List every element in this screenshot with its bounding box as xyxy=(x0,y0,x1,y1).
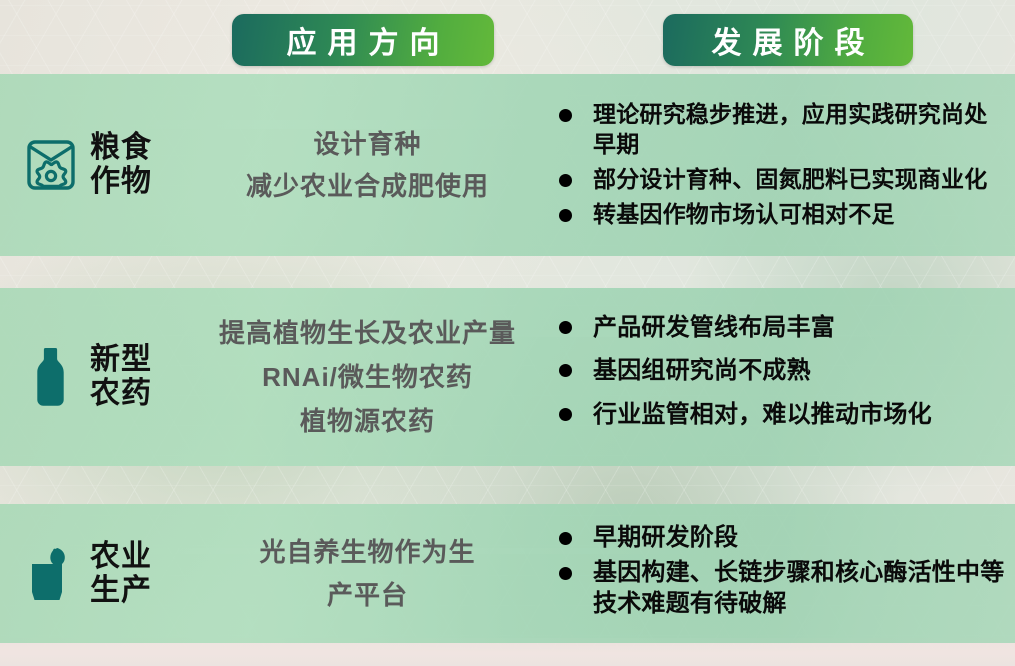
stage-bullet-item: 基因组研究尚不成熟 xyxy=(551,355,1007,386)
stage-cell: 理论研究稳步推进，应用实践研究尚处早期 部分设计育种、固氮肥料已实现商业化 转基… xyxy=(535,100,1015,230)
stage-bullet-item: 产品研发管线布局丰富 xyxy=(551,312,1007,343)
table-row: 粮食 作物 设计育种 减少农业合成肥使用 理论研究稳步推进，应用实践研究尚处早期… xyxy=(0,74,1015,256)
bullet-dot-icon xyxy=(559,567,572,580)
application-line: 提高植物生长及农业产量 xyxy=(204,311,531,355)
header-pill-application: 应用方向 xyxy=(232,14,494,66)
header-label-application: 应用方向 xyxy=(276,18,451,62)
category-label: 农业 生产 xyxy=(90,540,152,607)
category-label: 粮食 作物 xyxy=(90,131,152,198)
application-line: 产平台 xyxy=(204,574,531,616)
stage-bullet-item: 转基因作物市场认可相对不足 xyxy=(551,200,1007,230)
stage-bullet-text: 转基因作物市场认可相对不足 xyxy=(593,201,895,227)
stage-cell: 产品研发管线布局丰富 基因组研究尚不成熟 行业监管相对，难以推动市场化 xyxy=(535,312,1015,442)
stage-bullet-list: 产品研发管线布局丰富 基因组研究尚不成熟 行业监管相对，难以推动市场化 xyxy=(551,312,1007,430)
stage-bullet-item: 部分设计育种、固氮肥料已实现商业化 xyxy=(551,165,1007,195)
bullet-dot-icon xyxy=(559,174,572,187)
category-label: 新型 农药 xyxy=(90,343,152,410)
stage-bullet-text: 理论研究稳步推进，应用实践研究尚处早期 xyxy=(593,101,987,157)
application-line: 设计育种 xyxy=(204,123,531,165)
header-label-stage: 发展阶段 xyxy=(701,18,876,62)
application-line: 植物源农药 xyxy=(204,399,531,443)
stage-cell: 早期研发阶段 基因构建、长链步骤和核心酶活性中等技术难题有待破解 xyxy=(535,523,1015,623)
stage-bullet-text: 部分设计育种、固氮肥料已实现商业化 xyxy=(593,166,987,192)
application-line: 减少农业合成肥使用 xyxy=(204,165,531,207)
stage-bullet-text: 行业监管相对，难以推动市场化 xyxy=(593,401,932,428)
table-row: 农业 生产 光自养生物作为生 产平台 早期研发阶段 基因构建、长链步骤和核心酶活… xyxy=(0,504,1015,643)
category-cell: 农业 生产 xyxy=(0,540,200,607)
sprout-field-icon xyxy=(22,542,80,606)
bullet-dot-icon xyxy=(559,532,572,545)
table-row: 新型 农药 提高植物生长及农业产量 RNAi/微生物农药 植物源农药 产品研发管… xyxy=(0,288,1015,466)
pesticide-bottle-icon xyxy=(22,346,80,408)
application-line: 光自养生物作为生 xyxy=(204,531,531,573)
application-line: RNAi/微生物农药 xyxy=(204,355,531,399)
bullet-dot-icon xyxy=(559,321,572,334)
bullet-dot-icon xyxy=(559,109,572,122)
infographic-canvas: 应用方向 发展阶段 粮食 作物 设计育种 减少农业合成肥使用 xyxy=(0,0,1015,666)
stage-bullet-item: 基因构建、长链步骤和核心酶活性中等技术难题有待破解 xyxy=(551,558,1007,619)
seed-packet-icon xyxy=(22,136,80,194)
stage-bullet-list: 早期研发阶段 基因构建、长链步骤和核心酶活性中等技术难题有待破解 xyxy=(551,523,1007,619)
stage-bullet-text: 早期研发阶段 xyxy=(593,524,738,551)
application-cell: 光自养生物作为生 产平台 xyxy=(200,531,535,615)
stage-bullet-list: 理论研究稳步推进，应用实践研究尚处早期 部分设计育种、固氮肥料已实现商业化 转基… xyxy=(551,100,1007,230)
stage-bullet-text: 基因构建、长链步骤和核心酶活性中等技术难题有待破解 xyxy=(593,559,1004,617)
stage-bullet-text: 产品研发管线布局丰富 xyxy=(593,314,835,341)
category-cell: 粮食 作物 xyxy=(0,131,200,198)
stage-bullet-text: 基因组研究尚不成熟 xyxy=(593,357,811,384)
bullet-dot-icon xyxy=(559,209,572,222)
category-cell: 新型 农药 xyxy=(0,343,200,410)
bullet-dot-icon xyxy=(559,364,572,377)
application-cell: 设计育种 减少农业合成肥使用 xyxy=(200,123,535,207)
bullet-dot-icon xyxy=(559,408,572,421)
application-cell: 提高植物生长及农业产量 RNAi/微生物农药 植物源农药 xyxy=(200,311,535,444)
stage-bullet-item: 早期研发阶段 xyxy=(551,523,1007,554)
stage-bullet-item: 行业监管相对，难以推动市场化 xyxy=(551,399,1007,430)
header-pill-stage: 发展阶段 xyxy=(663,14,913,66)
stage-bullet-item: 理论研究稳步推进，应用实践研究尚处早期 xyxy=(551,100,1007,160)
